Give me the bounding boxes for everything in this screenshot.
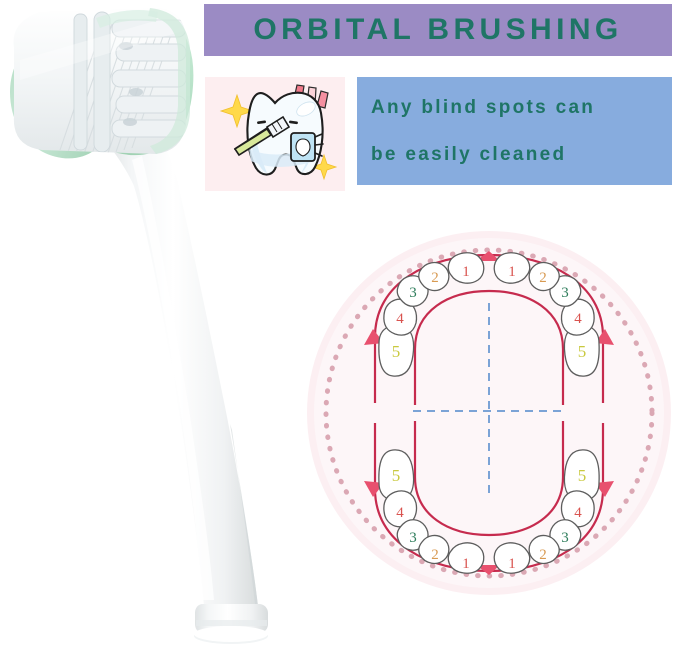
tooth-number: 4 xyxy=(574,311,582,327)
tooth-number: 1 xyxy=(508,556,516,572)
tooth-number: 2 xyxy=(539,270,547,286)
tooth-number: 2 xyxy=(431,270,439,286)
tooth-number: 1 xyxy=(508,264,516,280)
tooth-number: 5 xyxy=(392,466,401,485)
tooth-number: 1 xyxy=(462,556,470,572)
tooth-number: 1 xyxy=(462,264,470,280)
tooth-number: 4 xyxy=(574,505,582,521)
tooth-number: 5 xyxy=(578,342,587,361)
message-line-2: be easily cleaned xyxy=(371,145,672,164)
tooth-number: 4 xyxy=(396,505,404,521)
message-line-1: Any blind spots can xyxy=(371,98,672,117)
tooth-number: 3 xyxy=(561,530,569,546)
tooth-number: 3 xyxy=(409,530,417,546)
title-banner: ORBITAL BRUSHING xyxy=(204,4,672,56)
page-title: ORBITAL BRUSHING xyxy=(253,15,622,45)
tooth-number: 5 xyxy=(392,342,401,361)
tooth-number: 2 xyxy=(539,547,547,563)
tooth-number: 5 xyxy=(578,466,587,485)
message-box: Any blind spots can be easily cleaned xyxy=(357,77,672,185)
tooth-illustration-card xyxy=(205,77,345,191)
tooth-number: 3 xyxy=(561,285,569,301)
brush-head xyxy=(8,4,193,160)
brush-base xyxy=(194,604,268,644)
product-marketing-image: ORBITAL BRUSHING xyxy=(0,0,679,660)
tooth-number: 3 xyxy=(409,285,417,301)
tooth-number: 4 xyxy=(396,311,404,327)
dental-arch-diagram: 5 4 3 2 1 1 2 3 4 5 xyxy=(300,225,679,605)
tooth-number: 2 xyxy=(431,547,439,563)
brush-handle xyxy=(104,126,258,606)
